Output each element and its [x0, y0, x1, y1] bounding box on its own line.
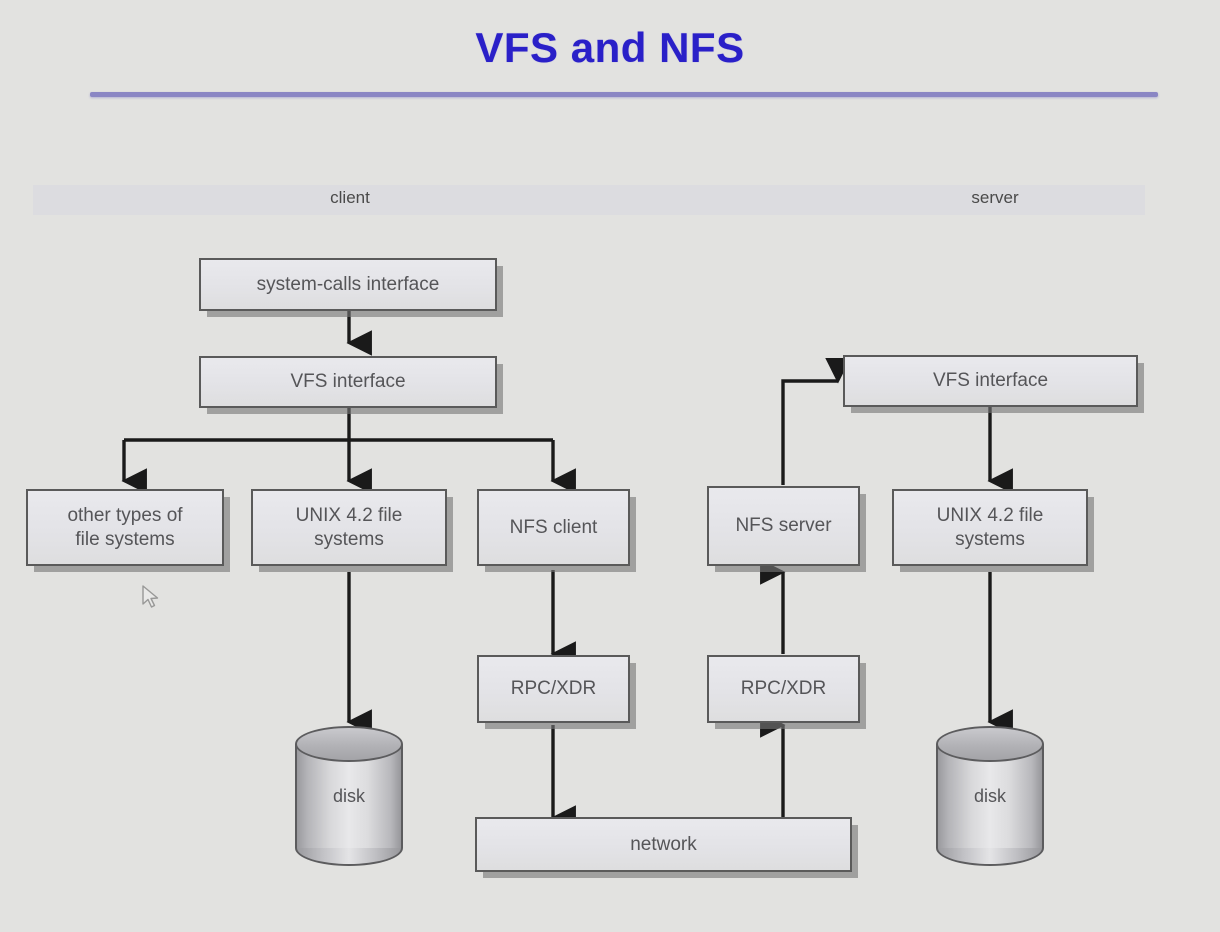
edge-nfs-server-to-vfs	[783, 381, 838, 485]
title-divider	[90, 92, 1158, 97]
node-label: VFS interface	[933, 369, 1048, 393]
mouse-cursor-icon	[141, 585, 163, 611]
node-label-line1: UNIX 4.2 file	[296, 504, 403, 528]
node-label: network	[630, 833, 697, 857]
node-network[interactable]: network	[475, 817, 852, 872]
node-label-line1: other types of	[67, 504, 182, 528]
slide-canvas: VFS and NFS client server	[0, 0, 1220, 932]
node-label: NFS server	[735, 514, 831, 538]
node-server-rpc-xdr[interactable]: RPC/XDR	[707, 655, 860, 723]
node-other-types-of-file-systems[interactable]: other types of file systems	[26, 489, 224, 566]
node-label: RPC/XDR	[511, 677, 597, 701]
node-label: NFS client	[510, 516, 598, 540]
node-client-disk[interactable]: disk	[295, 726, 403, 866]
node-server-unix-42-file-systems[interactable]: UNIX 4.2 file systems	[892, 489, 1088, 566]
node-label-line2: file systems	[75, 528, 174, 552]
node-label: disk	[936, 726, 1044, 866]
node-label-line1: UNIX 4.2 file	[937, 504, 1044, 528]
node-label: VFS interface	[290, 370, 405, 394]
page-title: VFS and NFS	[0, 24, 1220, 72]
node-client-rpc-xdr[interactable]: RPC/XDR	[477, 655, 630, 723]
node-label: RPC/XDR	[741, 677, 827, 701]
node-client-unix-42-file-systems[interactable]: UNIX 4.2 file systems	[251, 489, 447, 566]
node-label: disk	[295, 726, 403, 866]
node-system-calls-interface[interactable]: system-calls interface	[199, 258, 497, 311]
node-server-disk[interactable]: disk	[936, 726, 1044, 866]
node-label-line2: systems	[314, 528, 384, 552]
node-server-vfs-interface[interactable]: VFS interface	[843, 355, 1138, 407]
zone-label-server: server	[905, 188, 1085, 208]
zone-label-client: client	[260, 188, 440, 208]
node-label: system-calls interface	[257, 273, 440, 297]
node-client-vfs-interface[interactable]: VFS interface	[199, 356, 497, 408]
node-nfs-client[interactable]: NFS client	[477, 489, 630, 566]
node-nfs-server[interactable]: NFS server	[707, 486, 860, 566]
node-label-line2: systems	[955, 528, 1025, 552]
